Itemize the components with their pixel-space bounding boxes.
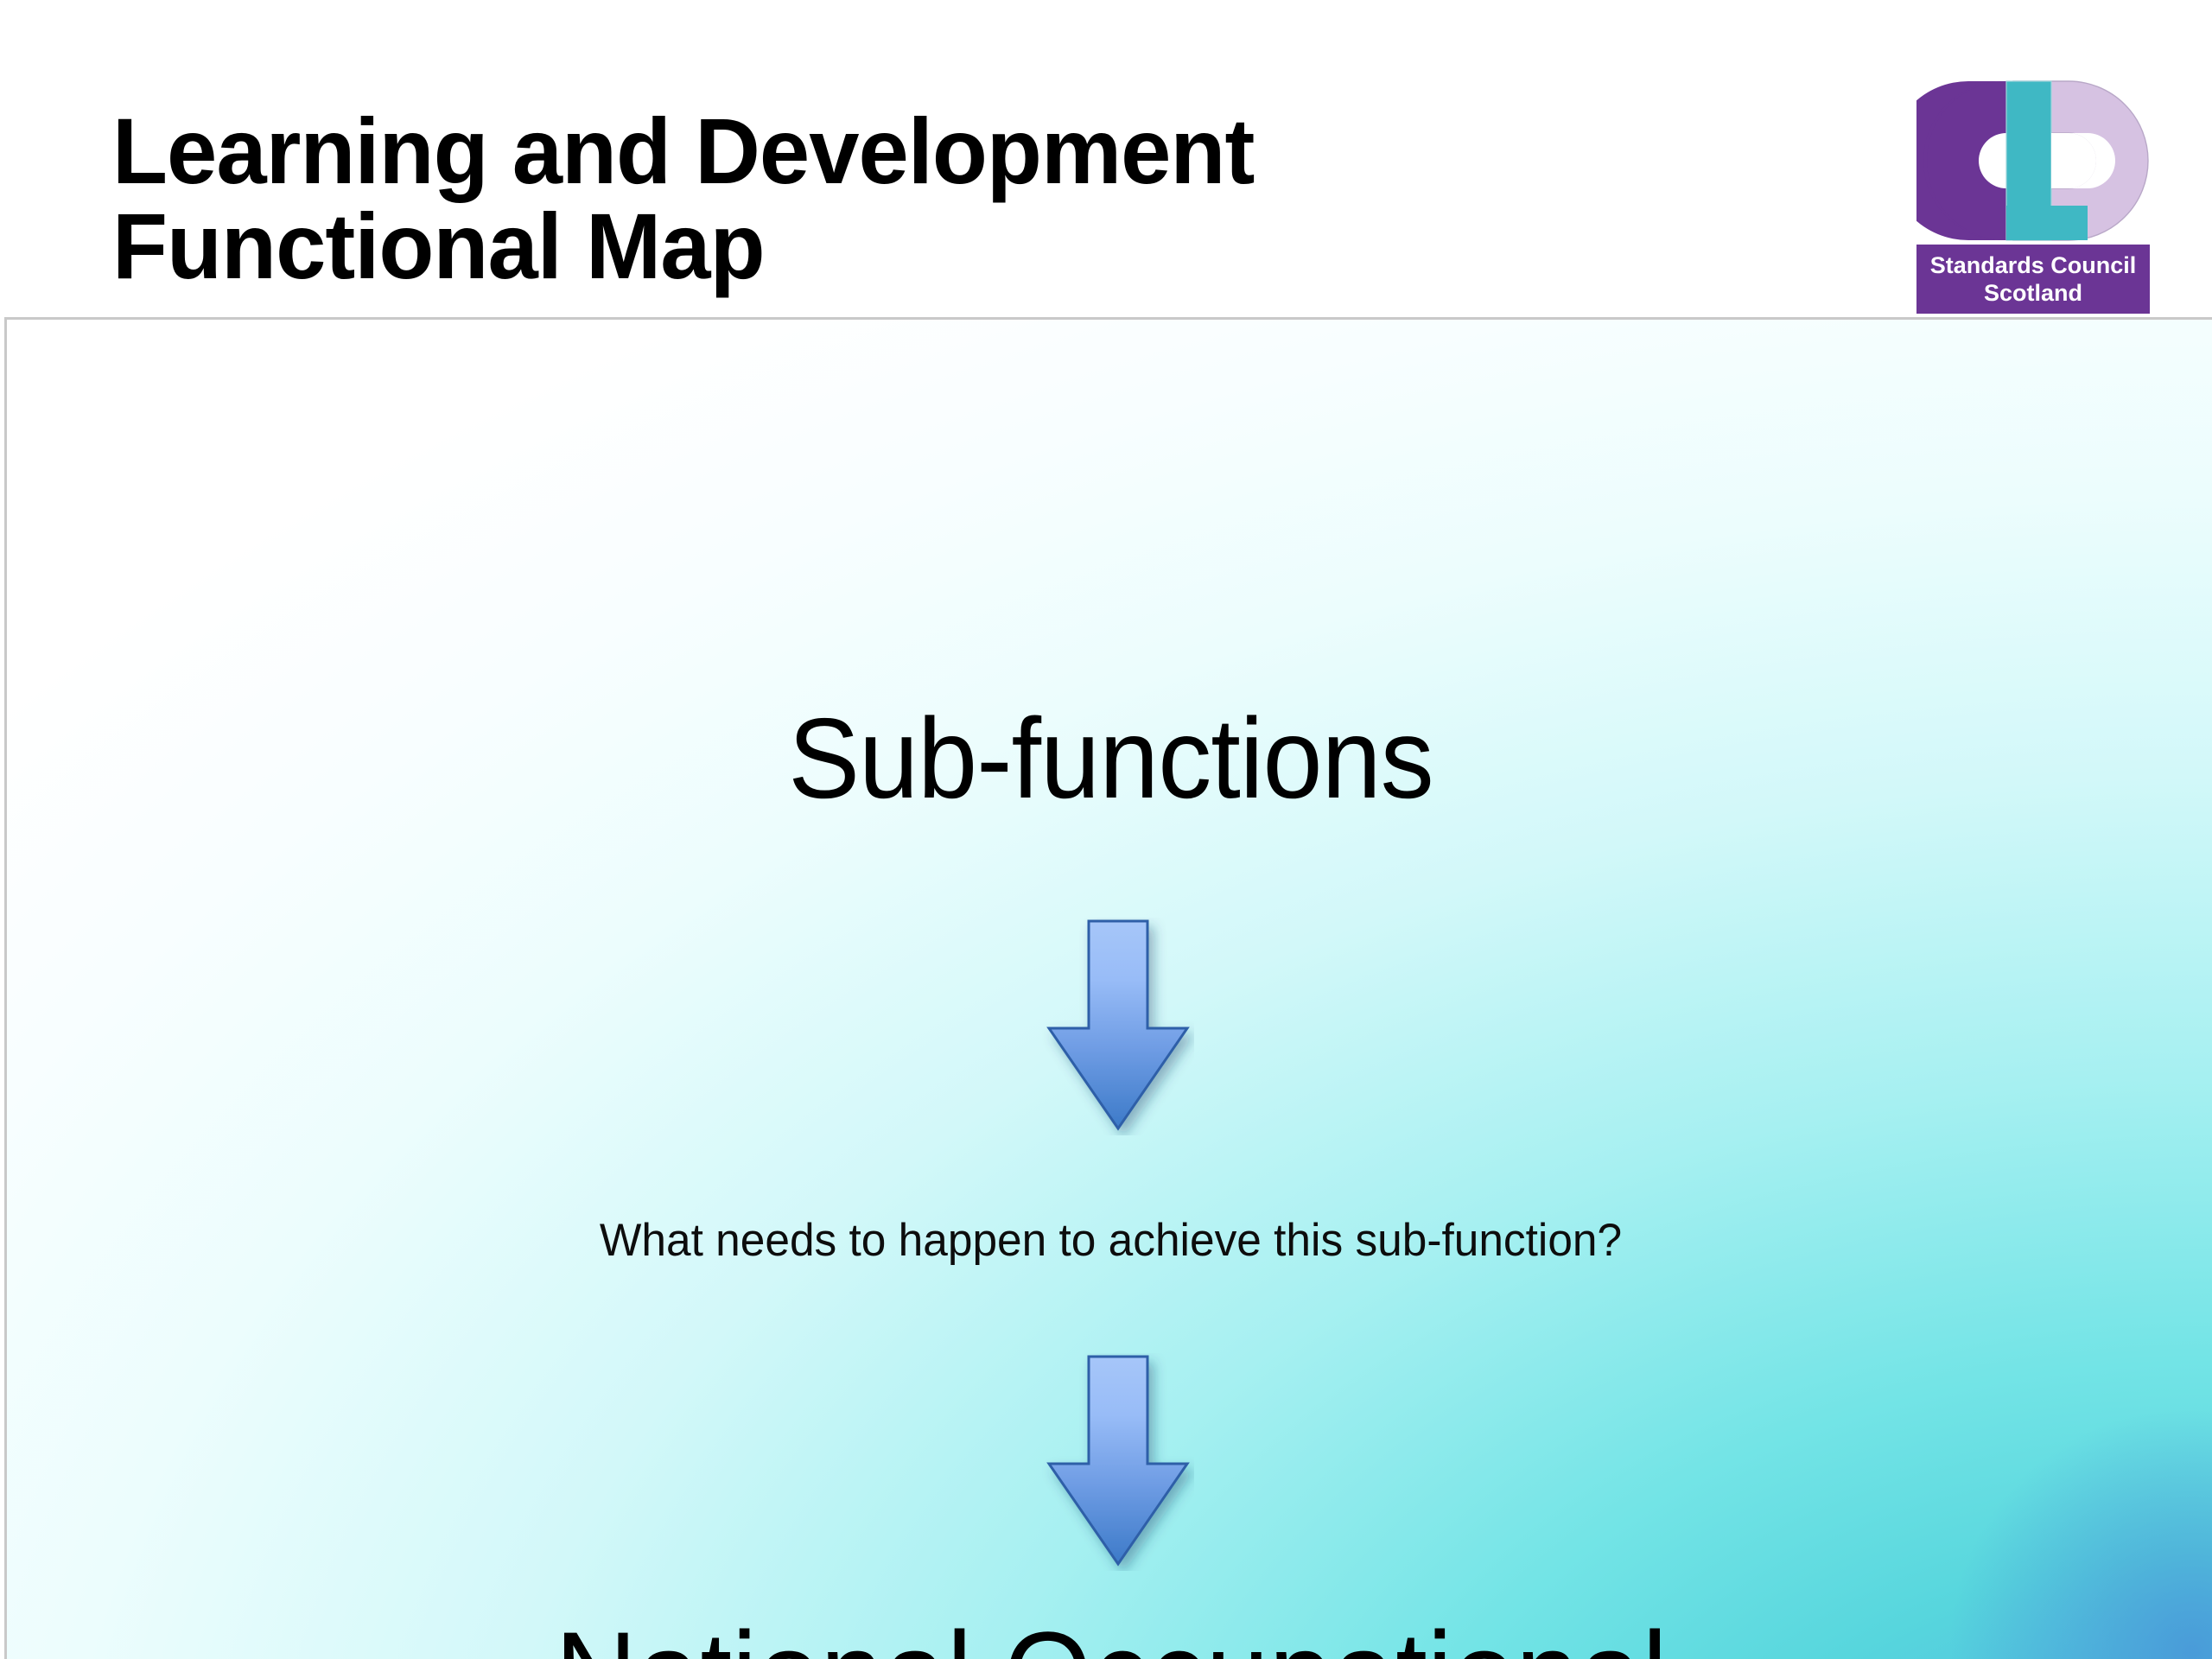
cld-standards-council-scotland-logo: Standards Council Scotland [1916, 76, 2152, 315]
slide-canvas: Learning and Development Functional Map … [0, 0, 2212, 1659]
logo-banner: Standards Council Scotland [1916, 245, 2150, 314]
page-title-line-2: Functional Map [112, 199, 1554, 294]
logo-banner-line-2: Scotland [1984, 280, 2082, 308]
sub-functions-heading: Sub-functions [73, 693, 2149, 823]
nos-heading-line-1: National Occupational [340, 1607, 1883, 1659]
down-arrow-icon-bottom [1042, 1353, 1194, 1571]
flow-diagram: Sub-functions [7, 320, 2212, 1659]
page-title-line-1: Learning and Development [112, 104, 1554, 199]
question-text: What needs to happen to achieve this sub… [40, 1214, 2181, 1267]
cld-logo-mark-icon [1916, 76, 2152, 245]
national-occupational-standards-heading: National Occupational Standards [290, 1607, 1932, 1659]
page-title: Learning and Development Functional Map [112, 104, 1599, 294]
content-panel: Sub-functions [4, 317, 2212, 1659]
logo-banner-line-1: Standards Council [1930, 252, 2137, 280]
down-arrow-icon-top [1042, 918, 1194, 1135]
